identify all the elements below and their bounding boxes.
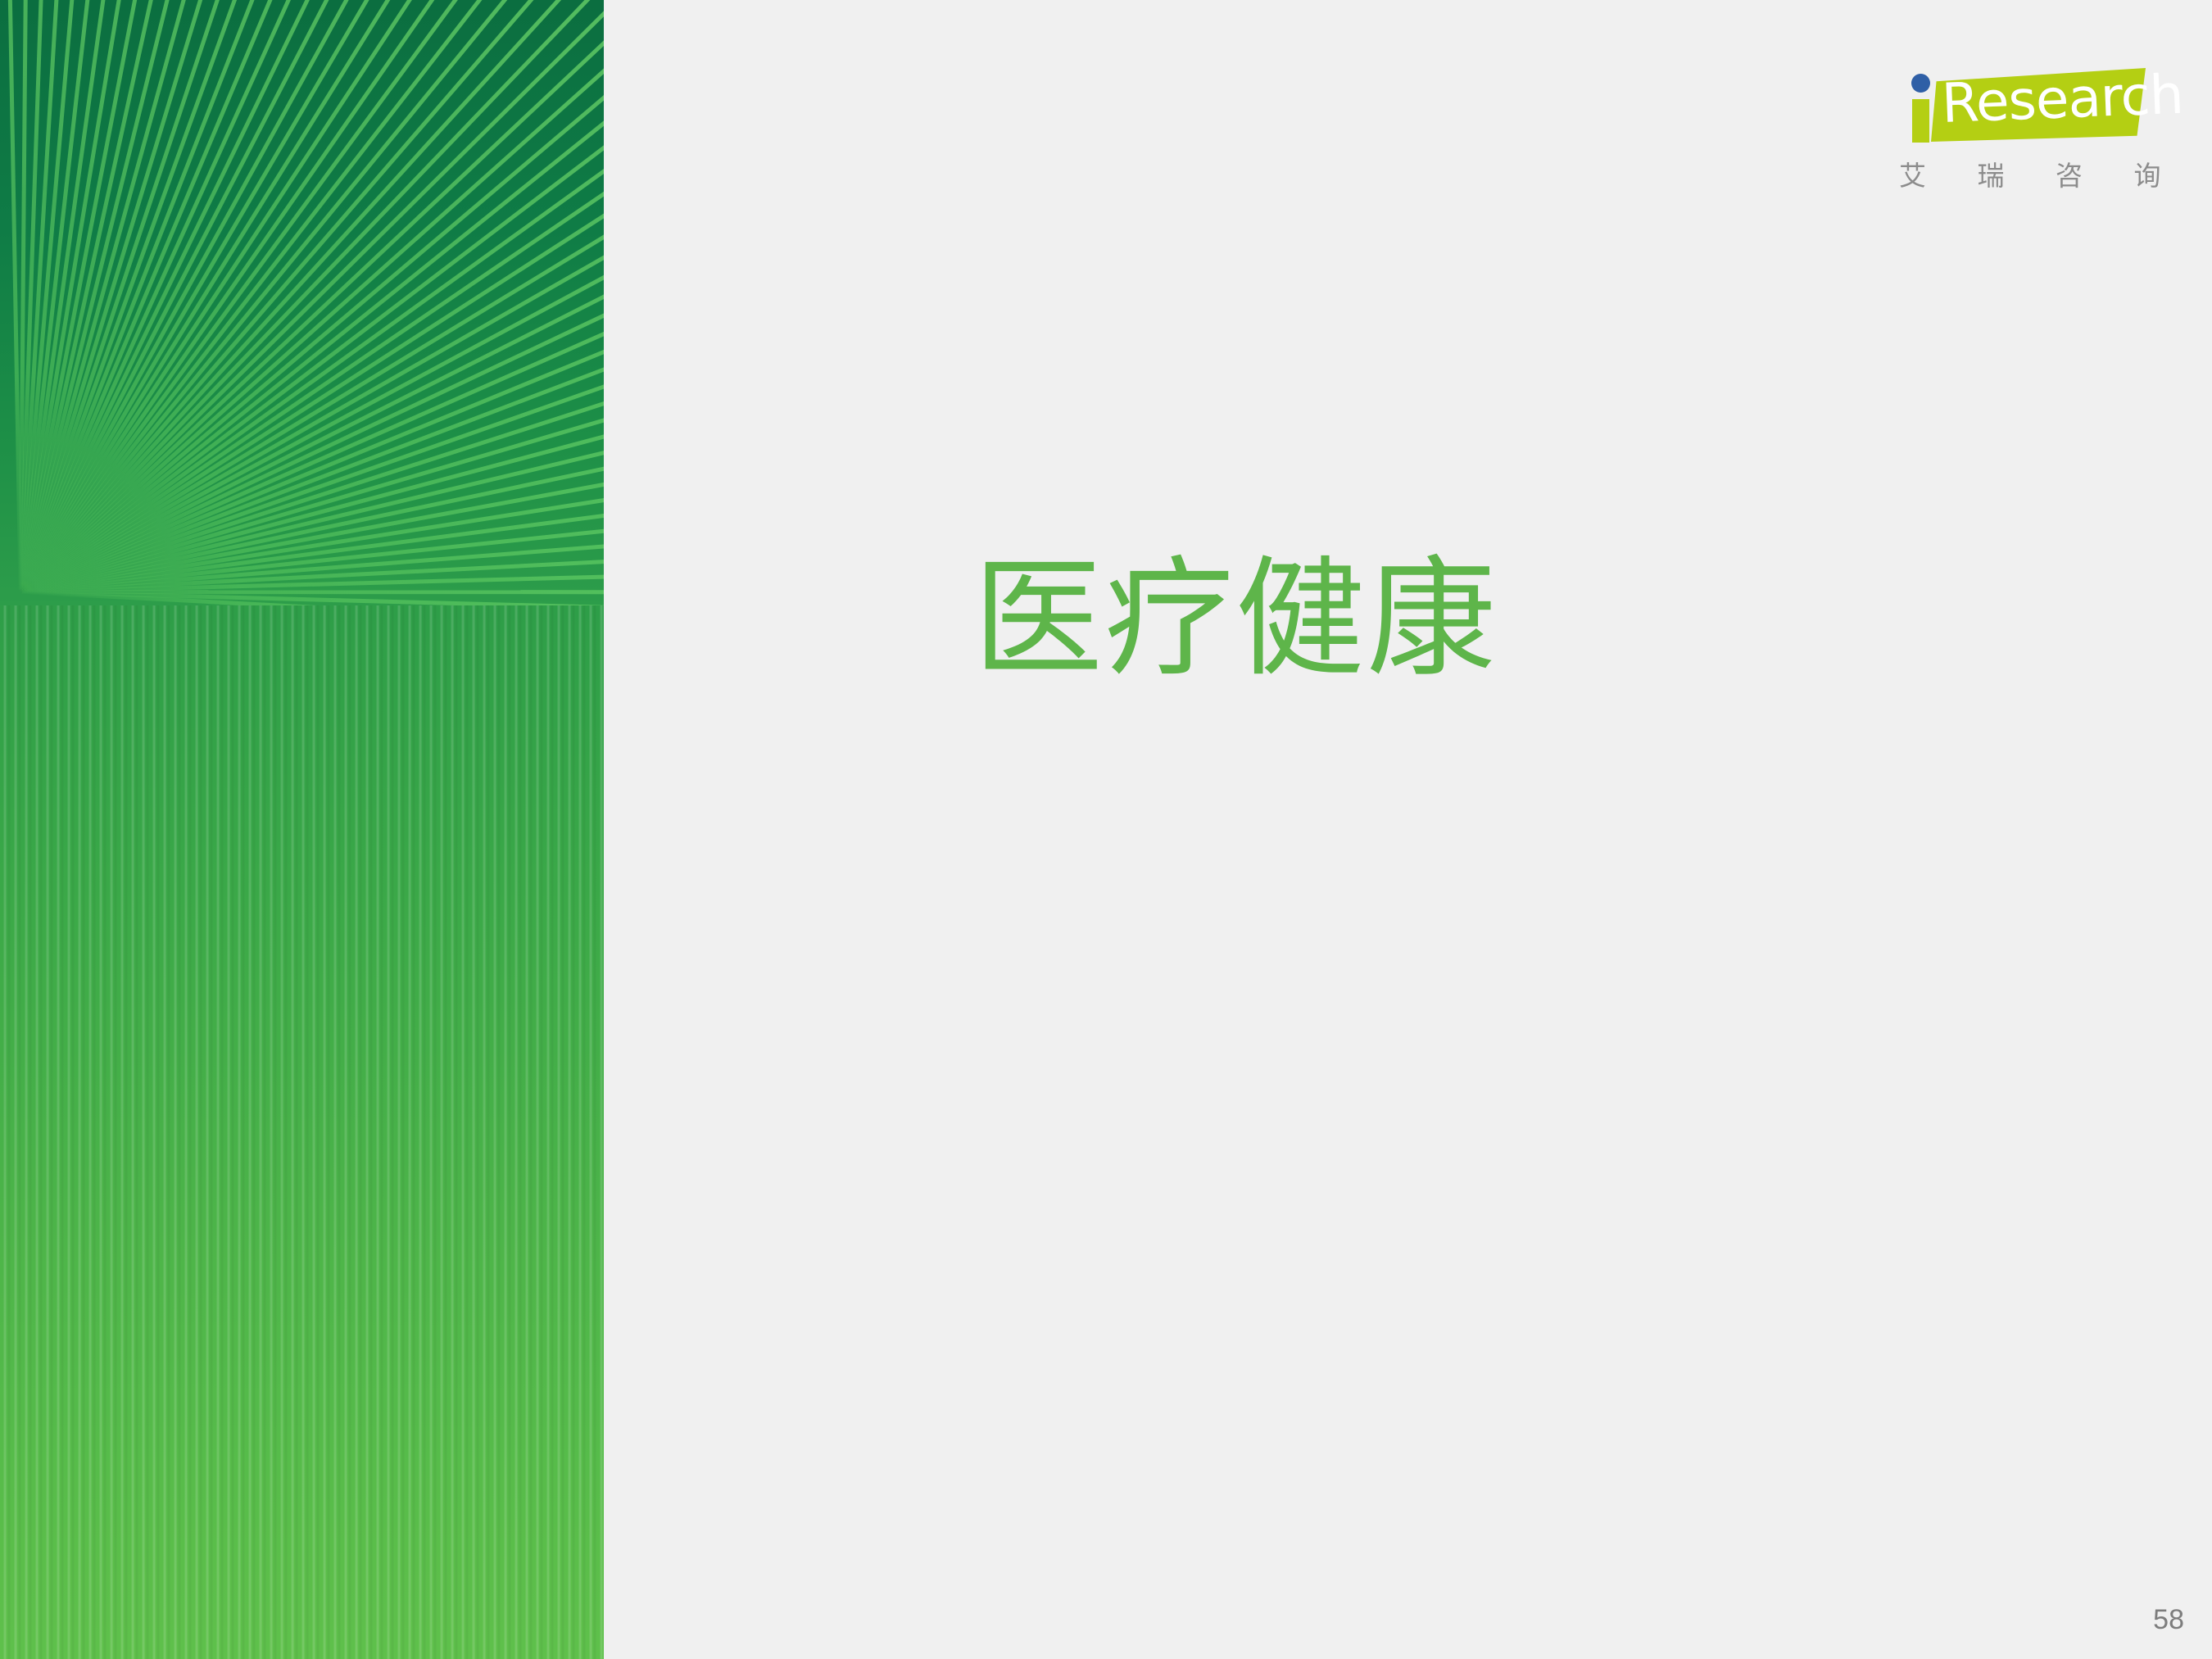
logo-mark: Research [1894, 64, 2156, 146]
vertical-stripes-overlay [0, 605, 604, 1659]
page-title: 医疗健康 [973, 546, 1498, 695]
logo-wordmark: Research [1941, 68, 2184, 131]
logo-subtitle: 艾 瑞 咨 询 [1899, 154, 2160, 193]
logo-i-dot-icon [1911, 74, 1930, 93]
page-number: 58 [2153, 1604, 2184, 1636]
slide-root: 医疗健康 Research 艾 瑞 咨 询 58 [0, 0, 2212, 1659]
decorative-green-panel [0, 0, 604, 1659]
vertical-stripes-graphic [0, 605, 604, 1659]
iresearch-logo: Research 艾 瑞 咨 询 [1894, 64, 2156, 203]
logo-i-stem-icon [1912, 99, 1929, 143]
sunburst-graphic [0, 0, 604, 605]
